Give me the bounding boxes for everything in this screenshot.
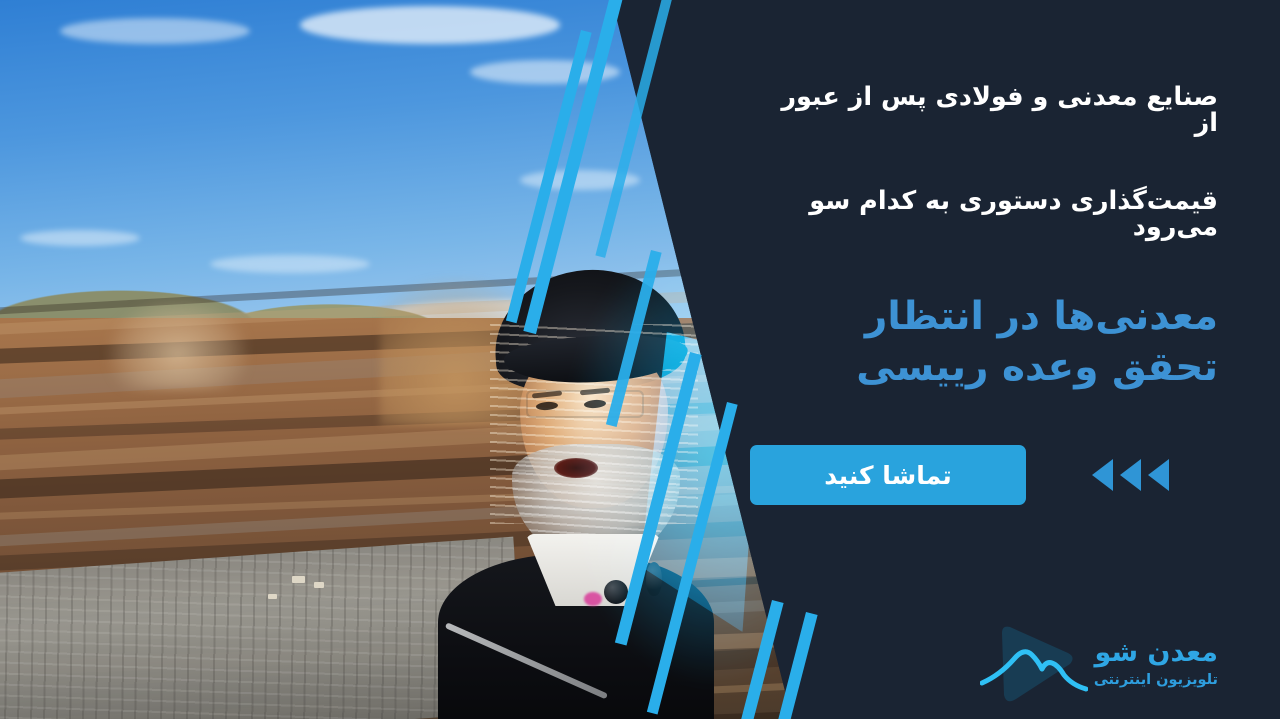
cloud: [60, 18, 250, 44]
left-arrow-icon: [1092, 459, 1113, 491]
logo-subtitle: تلویزیون اینترنتی: [1094, 673, 1218, 688]
microphone-accent: [584, 592, 602, 606]
microphone-head: [604, 580, 628, 604]
haul-truck: [314, 582, 324, 588]
cta-row: تماشا کنید: [750, 445, 1218, 505]
banner-content: صنایع معدنی و فولادی پس از عبور از قیمت‌…: [720, 0, 1280, 719]
logo-title: معدن شو: [1094, 639, 1218, 666]
kicker-text: صنایع معدنی و فولادی پس از عبور از قیمت‌…: [750, 84, 1218, 240]
haul-truck: [268, 594, 277, 599]
watch-button[interactable]: تماشا کنید: [750, 445, 1026, 505]
page-title: معدنی‌ها در انتظار تحقق وعده رییسی: [750, 292, 1218, 393]
kicker-line-1: صنایع معدنی و فولادی پس از عبور از: [781, 82, 1218, 138]
logo-text: معدن شو تلویزیون اینترنتی: [1094, 639, 1218, 688]
banner-stage: صنایع معدنی و فولادی پس از عبور از قیمت‌…: [0, 0, 1280, 719]
dust-plume: [108, 300, 248, 390]
mouth: [554, 458, 598, 478]
left-arrow-icon: [1120, 459, 1141, 491]
haul-truck: [292, 576, 305, 583]
left-arrow-icon: [1148, 459, 1169, 491]
headline-line-1: معدنی‌ها در انتظار: [865, 294, 1218, 339]
kicker-line-2: قیمت‌گذاری دستوری به کدام سو می‌رود: [750, 188, 1218, 240]
cloud: [20, 230, 140, 246]
triple-left-arrow-icon: [1092, 459, 1169, 491]
headline-line-2: تحقق وعده رییسی: [856, 345, 1218, 390]
cloud: [300, 6, 560, 44]
play-mountain-icon: [980, 619, 1088, 707]
brand-logo[interactable]: معدن شو تلویزیون اینترنتی: [980, 619, 1218, 707]
